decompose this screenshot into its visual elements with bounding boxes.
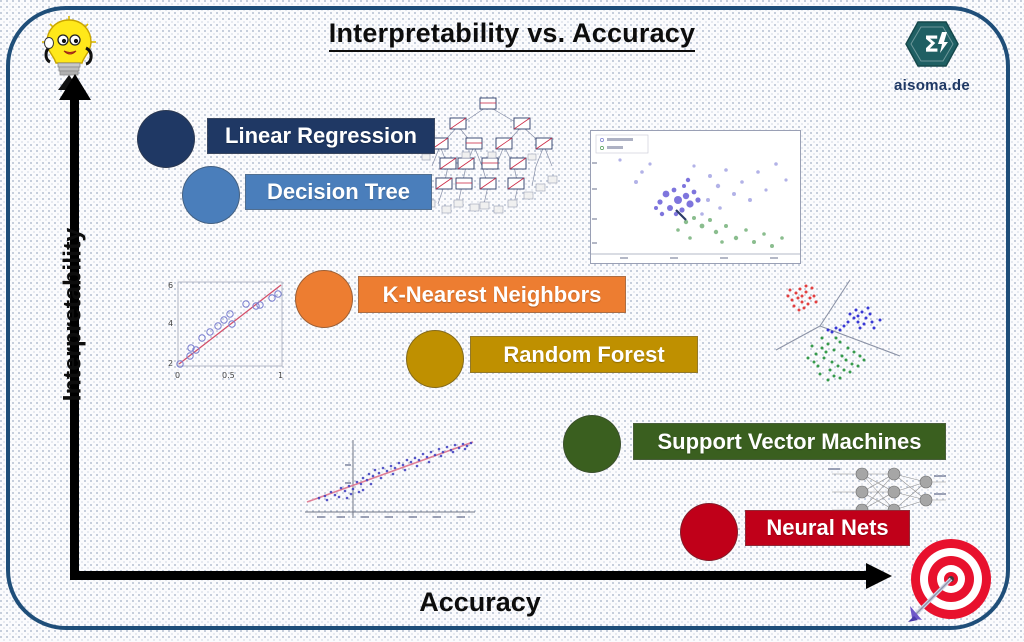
x-axis-line bbox=[70, 571, 875, 580]
scatter-plot-two-classes bbox=[590, 130, 801, 264]
linear-regression-scatter: 6 4 2 0 0.5 1 bbox=[160, 276, 292, 384]
algorithm-label-text: Neural Nets bbox=[746, 515, 909, 541]
algorithm-label-box-k-nearest-neighbors[interactable]: K-Nearest Neighbors bbox=[358, 276, 626, 313]
svg-text:2: 2 bbox=[168, 359, 173, 368]
algorithm-label-box-random-forest[interactable]: Random Forest bbox=[470, 336, 698, 373]
svg-text:1: 1 bbox=[278, 371, 283, 380]
x-axis-arrow-icon bbox=[866, 563, 892, 589]
algorithm-dot-k-nearest-neighbors[interactable] bbox=[295, 270, 353, 328]
algorithm-dot-linear-regression[interactable] bbox=[137, 110, 195, 168]
bullseye-target-icon bbox=[908, 536, 994, 622]
algorithm-label-box-neural-nets[interactable]: Neural Nets bbox=[745, 510, 910, 546]
brand-logo: Σ aisoma.de bbox=[878, 18, 986, 94]
algorithm-label-text: K-Nearest Neighbors bbox=[359, 282, 625, 308]
svm-cluster-boundaries bbox=[772, 278, 904, 390]
svg-text:4: 4 bbox=[168, 319, 173, 328]
algorithm-label-text: Linear Regression bbox=[208, 123, 434, 149]
y-axis-arrow-icon bbox=[59, 74, 91, 100]
y-axis-label: Interpretability bbox=[59, 205, 88, 425]
decision-tree-diagram bbox=[418, 92, 560, 224]
algorithm-label-text: Decision Tree bbox=[246, 179, 431, 205]
algorithm-dot-neural-nets[interactable] bbox=[680, 503, 738, 561]
algorithm-label-box-support-vector-machines[interactable]: Support Vector Machines bbox=[633, 423, 946, 460]
page-title: Interpretability vs. Accuracy bbox=[0, 18, 1024, 49]
regression-line-scatter bbox=[305, 440, 475, 550]
x-axis-label: Accuracy bbox=[330, 587, 630, 618]
aisoma-sigma-hexagon-logo: Σ bbox=[904, 18, 960, 70]
algorithm-label-text: Support Vector Machines bbox=[634, 429, 945, 455]
algorithm-label-text: Random Forest bbox=[471, 342, 697, 368]
svg-text:0.5: 0.5 bbox=[222, 371, 235, 380]
svg-text:6: 6 bbox=[168, 281, 173, 290]
page-title-text: Interpretability vs. Accuracy bbox=[329, 18, 695, 52]
algorithm-dot-support-vector-machines[interactable] bbox=[563, 415, 621, 473]
svg-text:0: 0 bbox=[175, 371, 180, 380]
algorithm-dot-random-forest[interactable] bbox=[406, 330, 464, 388]
algorithm-label-box-linear-regression[interactable]: Linear Regression bbox=[207, 118, 435, 154]
algorithm-dot-decision-tree[interactable] bbox=[182, 166, 240, 224]
infographic-canvas: Interpretability vs. Accuracy bbox=[0, 0, 1024, 642]
brand-name-label: aisoma.de bbox=[878, 77, 986, 94]
algorithm-label-box-decision-tree[interactable]: Decision Tree bbox=[245, 174, 432, 210]
svg-text:Σ: Σ bbox=[924, 33, 939, 58]
